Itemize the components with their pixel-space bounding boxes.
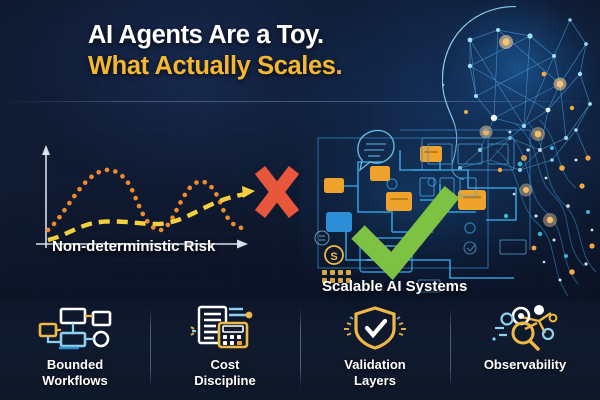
headline-line-1: AI Agents Are a Toy. — [88, 20, 418, 51]
headline-line-2: What Actually Scales. — [88, 51, 418, 82]
infographic-canvas: AI Agents Are a Toy. What Actually Scale… — [0, 0, 600, 400]
workflow-diagram-icon — [37, 304, 113, 352]
series-nondeterministic-variance — [48, 170, 242, 230]
feature-cost-discipline[interactable]: Cost Discipline — [150, 304, 300, 388]
shield-check-icon — [340, 304, 410, 352]
feature-validation-layers[interactable]: Validation Layers — [300, 304, 450, 388]
blue-module — [326, 212, 352, 232]
feature-observability[interactable]: Observability — [450, 304, 600, 373]
feature-label: Bounded Workflows — [42, 357, 108, 388]
series-expected-baseline — [48, 194, 246, 240]
x-axis-arrow — [237, 240, 248, 249]
header-divider — [0, 101, 600, 102]
baseline-arrowhead — [242, 186, 255, 198]
page-title: AI Agents Are a Toy. What Actually Scale… — [88, 20, 418, 82]
scalable-systems-diagram: S — [300, 120, 600, 300]
scalable-caption: Scalable AI Systems — [322, 278, 467, 295]
feature-bar: Bounded Workflows — [0, 300, 600, 400]
svg-text:S: S — [330, 251, 337, 263]
document-calculator-icon — [189, 304, 261, 352]
magnifier-network-icon — [487, 304, 563, 352]
y-axis-arrow — [42, 145, 50, 155]
risk-caption: Non-deterministic Risk — [52, 238, 215, 255]
feature-label: Validation Layers — [344, 357, 405, 388]
feature-bounded-workflows[interactable]: Bounded Workflows — [0, 304, 150, 388]
feature-label: Cost Discipline — [194, 357, 255, 388]
feature-label: Observability — [484, 357, 566, 373]
x-mark-icon — [260, 170, 294, 214]
